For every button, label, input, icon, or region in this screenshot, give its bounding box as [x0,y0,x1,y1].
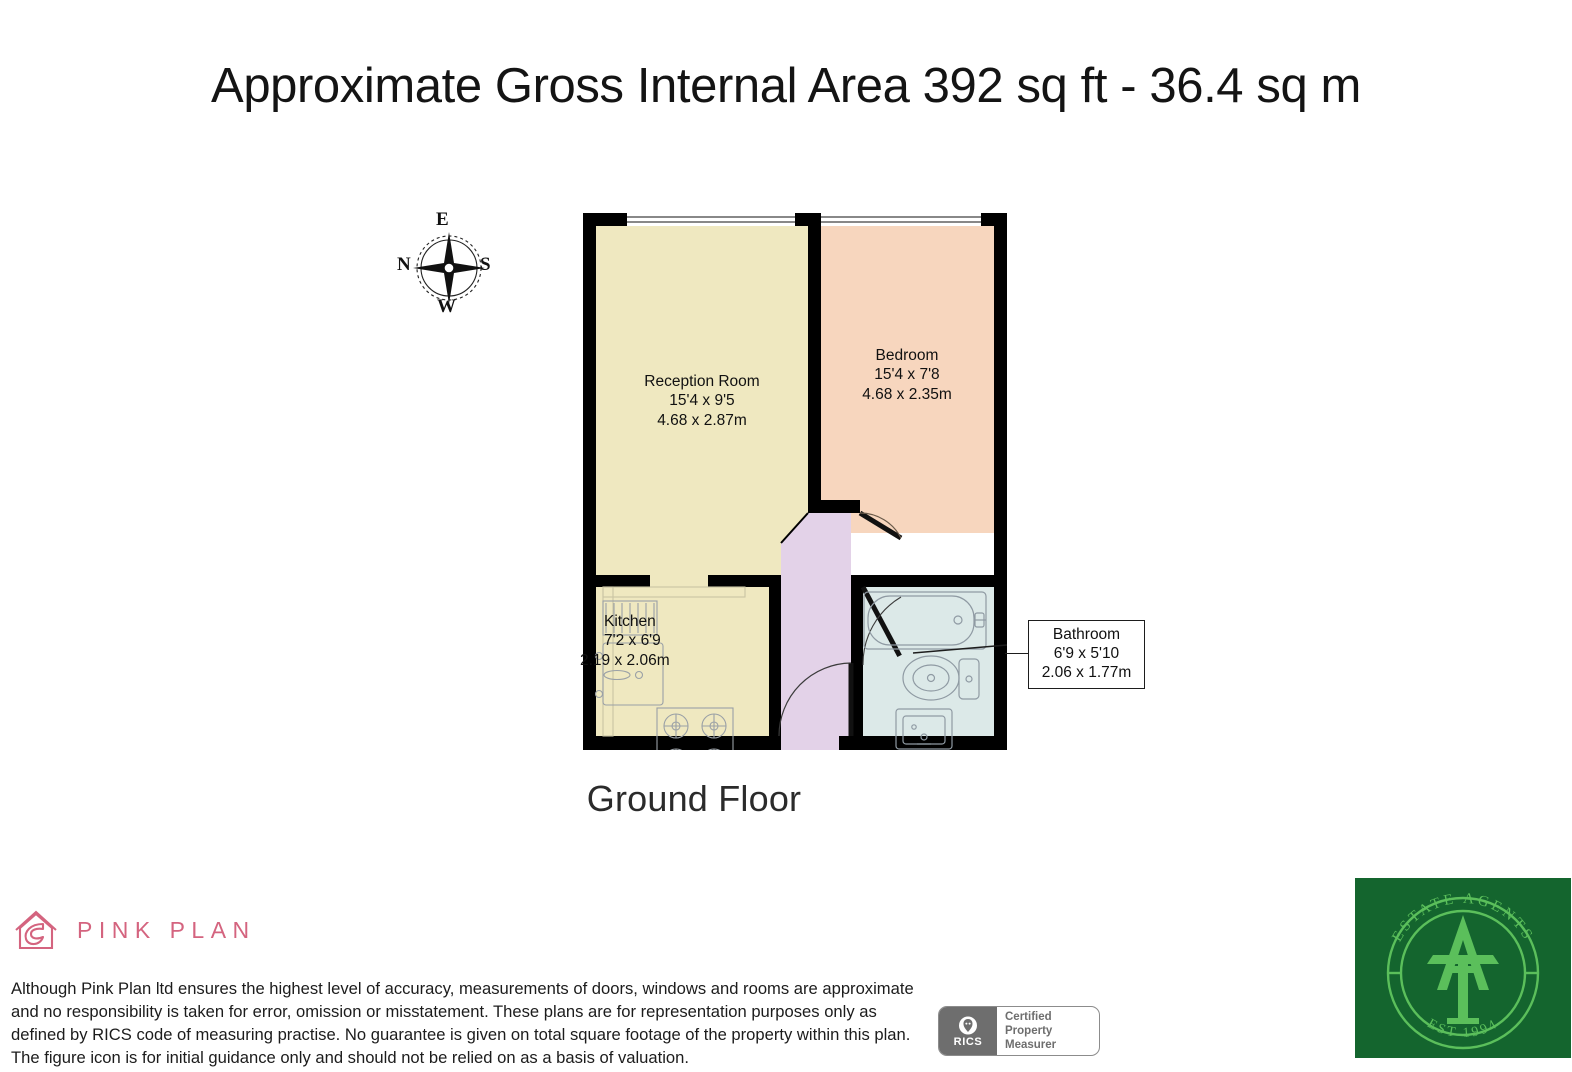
room-dim-metric: 2.19 x 2.06m [580,651,769,670]
compass-label-right: S [480,254,491,276]
floor-label: Ground Floor [583,778,805,820]
room-dim-imperial: 6'9 x 5'10 [1054,645,1119,664]
compass-label-bottom: W [437,296,456,318]
room-fill-hallway [781,513,851,750]
room-dim-metric: 2.06 x 1.77m [1042,664,1132,683]
room-dim-imperial: 15'4 x 9'5 [592,391,812,410]
rics-line-1: Certified [1005,1010,1099,1024]
pink-plan-house-icon [12,906,60,954]
wall-bottom-left [583,736,781,750]
rics-line-2: Property [1005,1024,1099,1038]
rics-mark: RICS [939,1007,997,1055]
rics-line-3: Measurer [1005,1038,1099,1052]
room-dim-imperial: 7'2 x 6'9 [604,631,769,650]
compass-rose: E N S W [388,212,510,324]
rics-lion-icon [958,1016,978,1035]
room-name: Bathroom [1053,626,1120,645]
room-dim-imperial: 15'4 x 7'8 [818,365,996,384]
estate-agent-seal-icon: ESTATE AGENTS EST 1994 [1355,878,1571,1058]
compass-label-left: N [397,254,411,276]
page-title: Approximate Gross Internal Area 392 sq f… [0,58,1572,114]
wall-bedroom-bottom [808,500,860,513]
compass-label-top: E [436,209,449,231]
pink-plan-logo: PINK PLAN [12,906,256,954]
brand-name: PINK PLAN [77,917,256,944]
room-name: Reception Room [592,372,812,391]
rics-badge: RICS Certified Property Measurer [938,1006,1100,1056]
room-label-bedroom: Bedroom 15'4 x 7'8 4.68 x 2.35m [818,346,996,404]
room-dim-metric: 4.68 x 2.87m [592,411,812,430]
estate-agent-logo: ESTATE AGENTS EST 1994 [1355,878,1571,1058]
wall-bottom-right [839,736,1007,750]
bathroom-leader-line [1005,653,1029,654]
rics-certification-text: Certified Property Measurer [997,1007,1099,1055]
room-label-kitchen: Kitchen 7'2 x 6'9 2.19 x 2.06m [604,612,769,670]
room-dim-metric: 4.68 x 2.35m [818,385,996,404]
room-label-reception: Reception Room 15'4 x 9'5 4.68 x 2.87m [592,372,812,430]
window-bedroom [821,213,981,226]
room-label-bathroom: Bathroom 6'9 x 5'10 2.06 x 1.77m [1028,620,1145,689]
room-name: Bedroom [818,346,996,365]
wall-kitchen-top-left [596,575,650,587]
disclaimer-text: Although Pink Plan ltd ensures the highe… [11,978,923,1070]
rics-wordmark: RICS [954,1036,983,1048]
room-name: Kitchen [604,612,769,631]
wall-bathroom-top [851,575,994,587]
wall-kitchen-right [769,575,781,736]
window-reception [627,213,795,226]
